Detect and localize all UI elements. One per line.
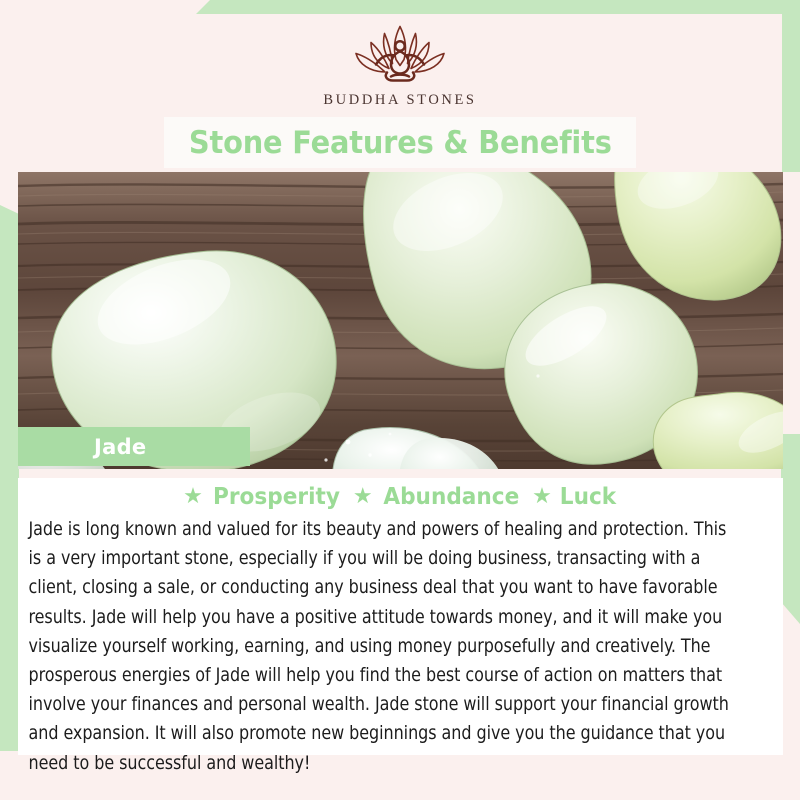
benefit-label: Abundance — [383, 484, 519, 510]
star-icon: ★ — [183, 485, 203, 507]
brand-header: BUDDHA STONES — [0, 0, 800, 118]
stone-name-banner: Jade — [18, 427, 250, 466]
benefit-item: ★ Luck — [532, 484, 618, 510]
star-icon: ★ — [353, 485, 373, 507]
decor-right-lower-green-strip — [781, 434, 800, 624]
benefit-item: ★ Prosperity — [183, 484, 344, 510]
decor-left-middle-green-strip — [0, 205, 19, 470]
benefits-list: ★ Prosperity ★ Abundance ★ Luck — [18, 478, 783, 514]
decor-left-lower-green-strip — [0, 466, 19, 751]
lotus-meditation-figure-icon — [345, 22, 455, 88]
benefit-label: Luck — [560, 484, 616, 510]
infographic-page: BUDDHA STONES Stone Features & Benefits — [0, 0, 800, 800]
stone-photo — [18, 172, 783, 469]
stone-name: Jade — [18, 435, 146, 459]
content-card: ★ Prosperity ★ Abundance ★ Luck Jade is … — [18, 478, 783, 755]
title-banner: Stone Features & Benefits — [164, 117, 636, 168]
benefit-label: Prosperity — [213, 484, 340, 510]
brand-logo: BUDDHA STONES — [290, 22, 510, 109]
page-title: Stone Features & Benefits — [189, 125, 612, 161]
brand-name: BUDDHA STONES — [290, 92, 510, 109]
stone-photo-illustration — [18, 172, 783, 469]
benefit-item: ★ Abundance — [353, 484, 523, 510]
stone-description: Jade is long known and valued for its be… — [18, 514, 749, 778]
star-icon: ★ — [532, 485, 552, 507]
